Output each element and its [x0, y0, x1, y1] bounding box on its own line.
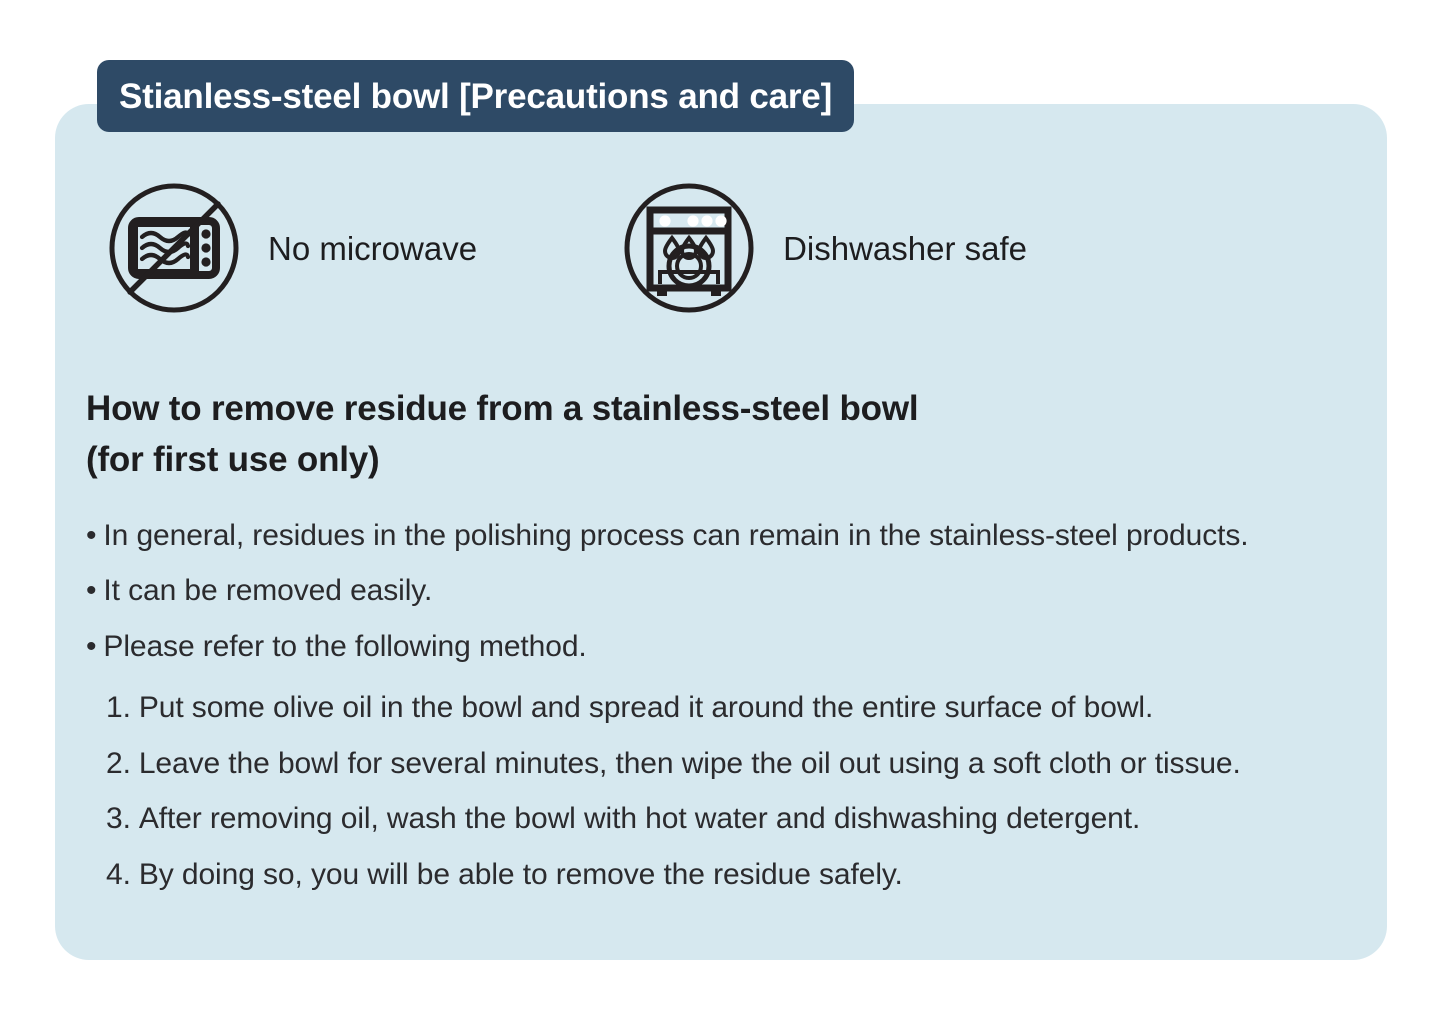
- instructions-heading-line-2: (for first use only): [86, 435, 1376, 486]
- list-item: •In general, residues in the polishing p…: [86, 508, 1376, 564]
- legend-item-no-microwave: No microwave: [106, 180, 477, 316]
- method-steps-list: 1.Put some olive oil in the bowl and spr…: [86, 680, 1376, 902]
- list-item: 2.Leave the bowl for several minutes, th…: [106, 736, 1376, 792]
- instructions-heading-line-1: How to remove residue from a stainless-s…: [86, 384, 1376, 435]
- list-item: •Please refer to the following method.: [86, 619, 1376, 675]
- dishwasher-safe-icon: [621, 180, 757, 316]
- step-text: By doing so, you will be able to remove …: [139, 858, 903, 891]
- bullet-marker-icon: •: [86, 519, 96, 552]
- instructions-heading: How to remove residue from a stainless-s…: [86, 384, 1376, 486]
- step-number: 4.: [106, 858, 131, 891]
- legend-label-dishwasher-safe: Dishwasher safe: [783, 232, 1027, 265]
- step-text: After removing oil, wash the bowl with h…: [139, 802, 1140, 835]
- card-title-badge: Stianless-steel bowl [Precautions and ca…: [97, 60, 854, 132]
- page-root: Stianless-steel bowl [Precautions and ca…: [0, 0, 1445, 1020]
- step-number: 1.: [106, 691, 131, 724]
- note-text: It can be removed easily.: [103, 574, 432, 607]
- page-title: Stianless-steel bowl [Precautions and ca…: [119, 79, 832, 114]
- step-number: 2.: [106, 747, 131, 780]
- legend-label-no-microwave: No microwave: [268, 232, 477, 265]
- bullet-marker-icon: •: [86, 630, 96, 663]
- no-microwave-icon: [106, 180, 242, 316]
- step-number: 3.: [106, 802, 131, 835]
- note-text: Please refer to the following method.: [103, 630, 586, 663]
- list-item: 1.Put some olive oil in the bowl and spr…: [106, 680, 1376, 736]
- bullet-marker-icon: •: [86, 574, 96, 607]
- step-text: Leave the bowl for several minutes, then…: [139, 747, 1241, 780]
- note-text: In general, residues in the polishing pr…: [103, 519, 1248, 552]
- legend-item-dishwasher-safe: Dishwasher safe: [621, 180, 1027, 316]
- step-text: Put some olive oil in the bowl and sprea…: [139, 691, 1153, 724]
- list-item: 4.By doing so, you will be able to remov…: [106, 847, 1376, 903]
- list-item: •It can be removed easily.: [86, 563, 1376, 619]
- notes-bullet-list: •In general, residues in the polishing p…: [86, 508, 1376, 675]
- symbol-legend-row: No microwave Dishwasher safe: [106, 180, 1027, 316]
- list-item: 3.After removing oil, wash the bowl with…: [106, 791, 1376, 847]
- instructions-block: How to remove residue from a stainless-s…: [86, 384, 1376, 902]
